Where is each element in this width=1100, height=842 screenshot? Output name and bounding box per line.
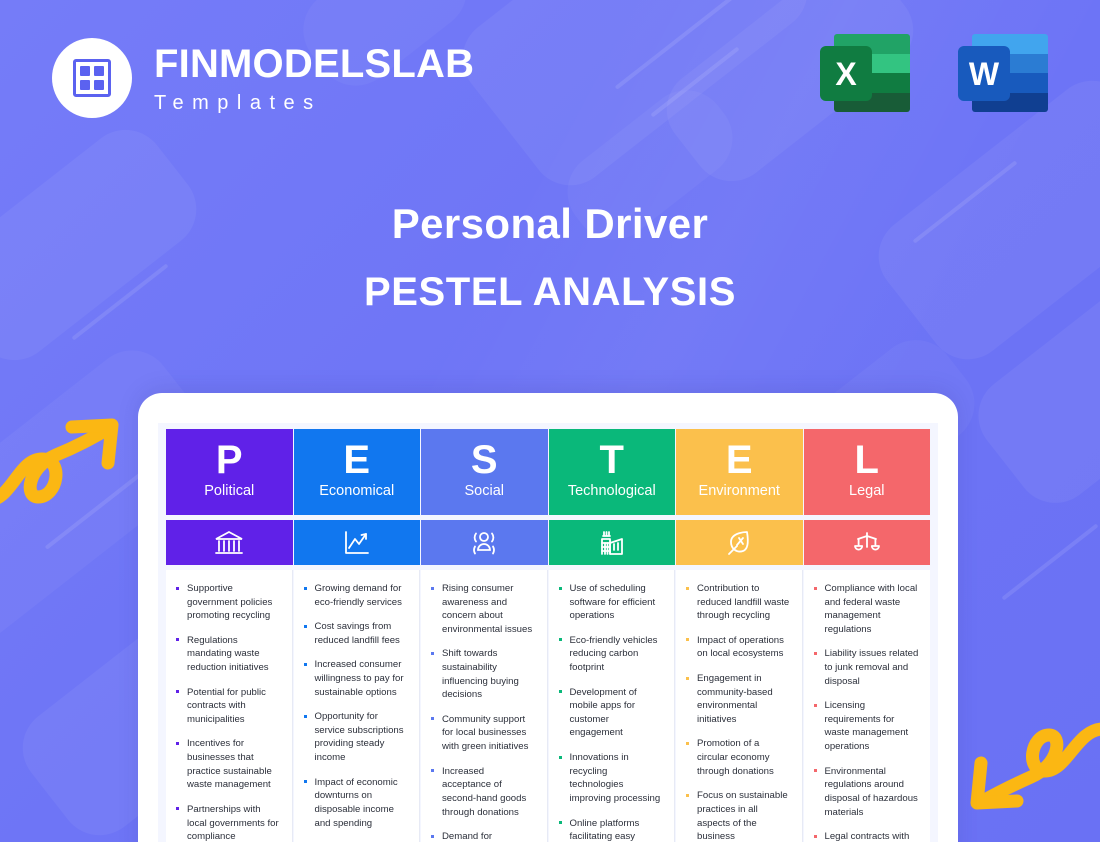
pestel-body-social: Rising consumer awareness and concern ab… — [421, 570, 548, 842]
file-format-icons: X W — [820, 28, 1048, 118]
bullet-list: Supportive government policies promoting… — [174, 582, 281, 842]
pestel-header-technological[interactable]: T Technological — [549, 429, 676, 515]
grid-squares-logo-icon — [73, 59, 111, 97]
list-item: Shift towards sustainability influencing… — [429, 647, 536, 701]
brand-name: FINMODELSLAB — [154, 44, 474, 84]
list-item: Demand for educational resources on wast… — [429, 830, 536, 842]
excel-icon-letter: X — [820, 46, 872, 101]
pestel-body-economical: Growing demand for eco-friendly services… — [294, 570, 421, 842]
list-item: Increased acceptance of second-hand good… — [429, 765, 536, 819]
list-item: Promotion of a circular economy through … — [684, 737, 791, 778]
list-item: Incentives for businesses that practice … — [174, 737, 281, 791]
pestel-header-political[interactable]: P Political — [166, 429, 293, 515]
pestel-letter: P — [216, 440, 243, 480]
word-icon-letter: W — [958, 46, 1010, 101]
bullet-list: Contribution to reduced landfill waste t… — [684, 582, 791, 842]
list-item: Use of scheduling software for efficient… — [557, 582, 664, 623]
list-item: Innovations in recycling technologies im… — [557, 751, 664, 805]
pestel-word: Political — [204, 484, 254, 499]
page-root: FINMODELSLAB Templates X W Personal Driv… — [0, 0, 1100, 842]
list-item: Growing demand for eco-friendly services — [302, 582, 409, 609]
bullet-list: Compliance with local and federal waste … — [812, 582, 920, 842]
pestel-header-social[interactable]: S Social — [421, 429, 548, 515]
brush-streak-decoration — [650, 47, 739, 118]
pestel-word: Technological — [568, 484, 656, 499]
brush-streak-decoration — [1001, 523, 1098, 600]
people-group-icon — [421, 520, 548, 565]
pestel-word: Social — [465, 484, 505, 499]
brush-streak-decoration — [615, 0, 736, 90]
bank-columns-icon — [166, 520, 293, 565]
line-chart-icon — [294, 520, 421, 565]
list-item: Environmental regulations around disposa… — [812, 765, 920, 819]
brush-stroke-decoration — [446, 0, 823, 201]
leaf-icon — [676, 520, 803, 565]
list-item: Partnerships with local governments for … — [174, 803, 281, 842]
tablet-mockup: P Political E Economical S Social T Tech… — [138, 393, 958, 842]
pestel-body-environment: Contribution to reduced landfill waste t… — [676, 570, 803, 842]
list-item: Engagement in community-based environmen… — [684, 672, 791, 726]
list-item: Online platforms facilitating easy booki… — [557, 817, 664, 842]
page-subtitle: PESTEL ANALYSIS — [0, 270, 1100, 315]
list-item: Cost savings from reduced landfill fees — [302, 620, 409, 647]
tablet-screen: P Political E Economical S Social T Tech… — [158, 423, 938, 842]
pestel-letter: E — [343, 440, 370, 480]
list-item: Increased consumer willingness to pay fo… — [302, 658, 409, 699]
list-item: Development of mobile apps for customer … — [557, 686, 664, 740]
list-item: Supportive government policies promoting… — [174, 582, 281, 623]
page-title-block: Personal Driver PESTEL ANALYSIS — [0, 200, 1100, 315]
list-item: Impact of operations on local ecosystems — [684, 634, 791, 661]
pestel-header-economical[interactable]: E Economical — [294, 429, 421, 515]
pestel-word: Economical — [319, 484, 394, 499]
pestel-word: Legal — [849, 484, 884, 499]
list-item: Potential for public contracts with muni… — [174, 686, 281, 727]
squiggle-arrow-up-right-icon — [0, 405, 134, 520]
list-item: Community support for local businesses w… — [429, 713, 536, 754]
list-item: Liability issues related to junk removal… — [812, 647, 920, 688]
brand-text: FINMODELSLAB Templates — [154, 44, 474, 113]
pestel-letter: E — [726, 440, 753, 480]
list-item: Compliance with local and federal waste … — [812, 582, 920, 636]
pestel-letter: L — [855, 440, 879, 480]
bullet-list: Growing demand for eco-friendly services… — [302, 582, 409, 830]
list-item: Contribution to reduced landfill waste t… — [684, 582, 791, 623]
list-item: Focus on sustainable practices in all as… — [684, 789, 791, 842]
pestel-body-legal: Compliance with local and federal waste … — [804, 570, 931, 842]
pestel-grid: P Political E Economical S Social T Tech… — [166, 429, 930, 842]
bullet-list: Use of scheduling software for efficient… — [557, 582, 664, 842]
squiggle-arrow-down-left-icon — [951, 719, 1100, 824]
pestel-letter: S — [471, 440, 498, 480]
scales-balance-icon — [804, 520, 931, 565]
list-item: Opportunity for service subscriptions pr… — [302, 710, 409, 764]
pestel-body-political: Supportive government policies promoting… — [166, 570, 293, 842]
list-item: Regulations mandating waste reduction in… — [174, 634, 281, 675]
pestel-body-technological: Use of scheduling software for efficient… — [549, 570, 676, 842]
word-icon: W — [958, 28, 1048, 118]
page-title: Personal Driver — [0, 200, 1100, 248]
brand-subtitle: Templates — [154, 93, 474, 113]
brand-logo: FINMODELSLAB Templates — [52, 38, 474, 118]
excel-icon: X — [820, 28, 910, 118]
factory-building-icon — [549, 520, 676, 565]
pestel-letter: T — [600, 440, 624, 480]
pestel-header-environment[interactable]: E Environment — [676, 429, 803, 515]
list-item: Licensing requirements for waste managem… — [812, 699, 920, 753]
pestel-header-legal[interactable]: L Legal — [804, 429, 931, 515]
logo-badge — [52, 38, 132, 118]
list-item: Eco-friendly vehicles reducing carbon fo… — [557, 634, 664, 675]
list-item: Rising consumer awareness and concern ab… — [429, 582, 536, 636]
bullet-list: Rising consumer awareness and concern ab… — [429, 582, 536, 842]
list-item: Impact of economic downturns on disposab… — [302, 776, 409, 830]
pestel-word: Environment — [699, 484, 780, 499]
list-item: Legal contracts with recycling centers a… — [812, 830, 920, 842]
